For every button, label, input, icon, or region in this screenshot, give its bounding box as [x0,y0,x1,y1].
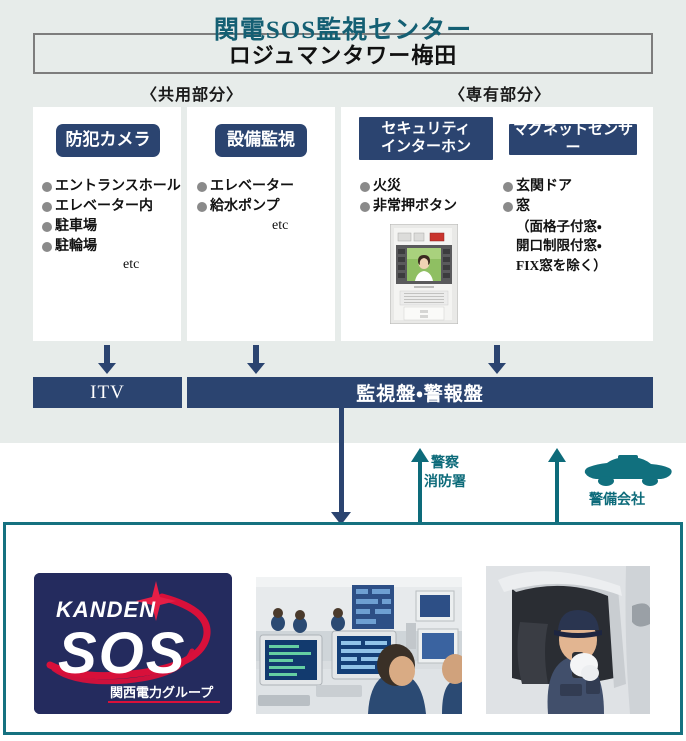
etc-label-security-camera: etc [123,257,139,273]
badge-security-camera: 防犯カメラ [56,124,160,157]
label-fire-department: 消防署 [424,474,466,493]
bullet-dot-icon [42,242,52,252]
list-item: 窓 [503,197,607,217]
badge-security-intercom-label-line2: インターホン [381,139,471,157]
sos-center-title: 関電SOS監視センター [0,10,686,46]
etc-label-facility-monitoring: etc [272,218,288,234]
kanden-sos-logo: KANDEN SOS 関西電力グループ [34,573,232,714]
bullet-dot-icon [42,222,52,232]
connector-monitor-to-sos-center [339,407,344,517]
list-item: 非常押ボタン [360,197,457,217]
bar-monitoring-alarm-panel: 監視盤・警報盤 [187,377,653,408]
bullet-dot-icon [42,182,52,192]
label-security-company: 警備会社 [589,492,645,511]
list-item-label: エレベーター内 [55,197,153,217]
list-item: 駐車場 [42,217,181,237]
magnet-sensor-note-line1: （面格子付窓・ [516,217,607,237]
bullet-dot-icon [197,202,207,212]
bullet-dot-icon [360,202,370,212]
list-item: 給水ポンプ [197,197,294,217]
badge-facility-monitoring: 設備監視 [215,124,307,157]
svg-text:KANDEN: KANDEN [56,597,156,622]
bullet-dot-icon [503,202,513,212]
intercom-monitor-icon [390,224,458,324]
label-police-fire: 警察 消防署 [424,455,466,493]
list-item: 駐輪場 [42,237,181,257]
list-security-intercom: 火災 非常押ボタン [360,177,457,217]
list-facility-monitoring: エレベーター 給水ポンプ [197,177,294,217]
bar-itv-label: ITV [90,382,125,404]
list-item-label: エントランスホール [55,177,181,197]
list-security-camera: エントランスホール エレベーター内 駐車場 駐輪場 [42,177,181,257]
svg-text:SOS: SOS [58,621,187,686]
section-caption-private-area: 〈専有部分〉 [449,81,551,105]
magnet-sensor-note-line2: 開口制限付窓・ [516,236,607,256]
security-guard-car-photo [486,566,650,714]
list-item-label: 駐輪場 [55,237,97,257]
badge-security-intercom-label-line1: セキュリティ [381,121,470,139]
list-item: エレベーター内 [42,197,181,217]
badge-security-intercom: セキュリティ インターホン [359,117,493,160]
list-item-label: エレベーター [210,177,294,197]
list-item-label: 窓 [516,197,530,217]
list-item-label: 給水ポンプ [210,197,280,217]
control-room-photo [256,577,462,714]
bullet-dot-icon [197,182,207,192]
list-magnet-sensor: 玄関ドア 窓 （面格子付窓・ 開口制限付窓・ FIX窓を除く） [503,177,607,275]
badge-magnet-sensor: マグネットセンサー [509,124,637,155]
list-item: 火災 [360,177,457,197]
bullet-dot-icon [503,182,513,192]
bullet-dot-icon [360,182,370,192]
bar-monitoring-alarm-panel-label: 監視盤・警報盤 [356,379,483,406]
bar-itv: ITV [33,377,182,408]
badge-magnet-sensor-label: マグネットセンサー [509,122,637,157]
badge-security-camera-label: 防犯カメラ [66,130,151,150]
bullet-dot-icon [42,202,52,212]
list-item-label: 駐車場 [55,217,97,237]
section-caption-common-area: 〈共用部分〉 [141,81,243,105]
list-item-label: 玄関ドア [516,177,572,197]
label-police: 警察 [424,455,466,474]
list-item-label: 火災 [373,177,401,197]
list-item: エントランスホール [42,177,181,197]
list-item: エレベーター [197,177,294,197]
list-item: 玄関ドア [503,177,607,197]
patrol-car-icon [582,455,672,489]
badge-facility-monitoring-label: 設備監視 [227,130,295,150]
list-item-label: 非常押ボタン [373,197,457,217]
magnet-sensor-note-line3: FIX窓を除く） [516,256,607,276]
svg-text:関西電力グループ: 関西電力グループ [110,685,214,700]
